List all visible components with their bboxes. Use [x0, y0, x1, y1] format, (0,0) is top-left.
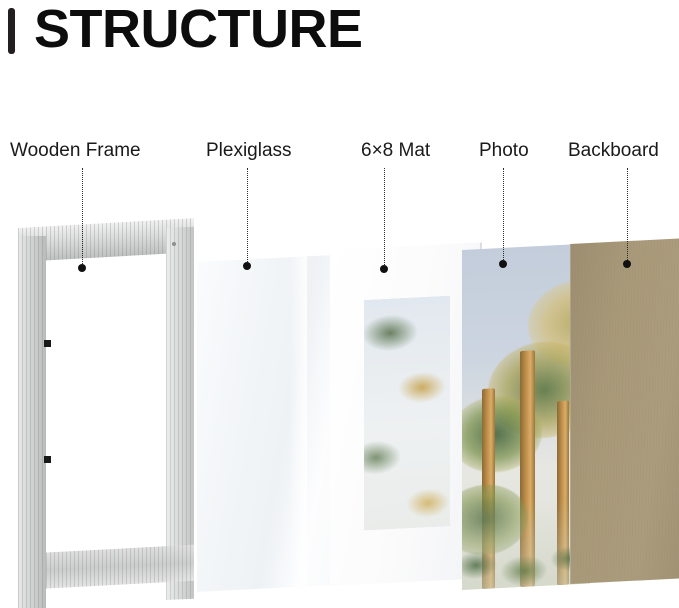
- leader-dot-photo: [499, 260, 507, 268]
- label-photo: Photo: [479, 139, 529, 163]
- exploded-view-stage: [0, 0, 679, 605]
- label-wooden-frame: Wooden Frame: [10, 139, 141, 163]
- frame-stile-left: [18, 236, 46, 608]
- leader-line-mat: [384, 168, 385, 265]
- leader-line-wooden-frame: [82, 168, 83, 264]
- leader-line-plexiglass: [247, 168, 248, 262]
- leader-line-backboard: [627, 168, 628, 260]
- layer-wooden-frame: [18, 228, 194, 608]
- label-backboard: Backboard: [568, 139, 659, 163]
- label-mat: 6×8 Mat: [361, 139, 430, 163]
- frame-retaining-clip: [44, 340, 51, 347]
- leader-dot-wooden-frame: [78, 264, 86, 272]
- mat-window-photo-glimpse: [364, 296, 450, 530]
- leader-line-photo: [503, 168, 504, 260]
- label-plexiglass: Plexiglass: [206, 139, 292, 163]
- mat-window-opening: [364, 296, 450, 530]
- leader-dot-backboard: [623, 260, 631, 268]
- layer-backboard: [570, 237, 679, 584]
- layer-mat: [330, 242, 482, 586]
- frame-retaining-clip: [44, 456, 51, 463]
- frame-corner-nail: [172, 242, 176, 246]
- plexiglass-sheen: [289, 256, 307, 587]
- layer-plexiglass: [196, 254, 346, 592]
- leader-dot-mat: [380, 265, 388, 273]
- leader-dot-plexiglass: [243, 262, 251, 270]
